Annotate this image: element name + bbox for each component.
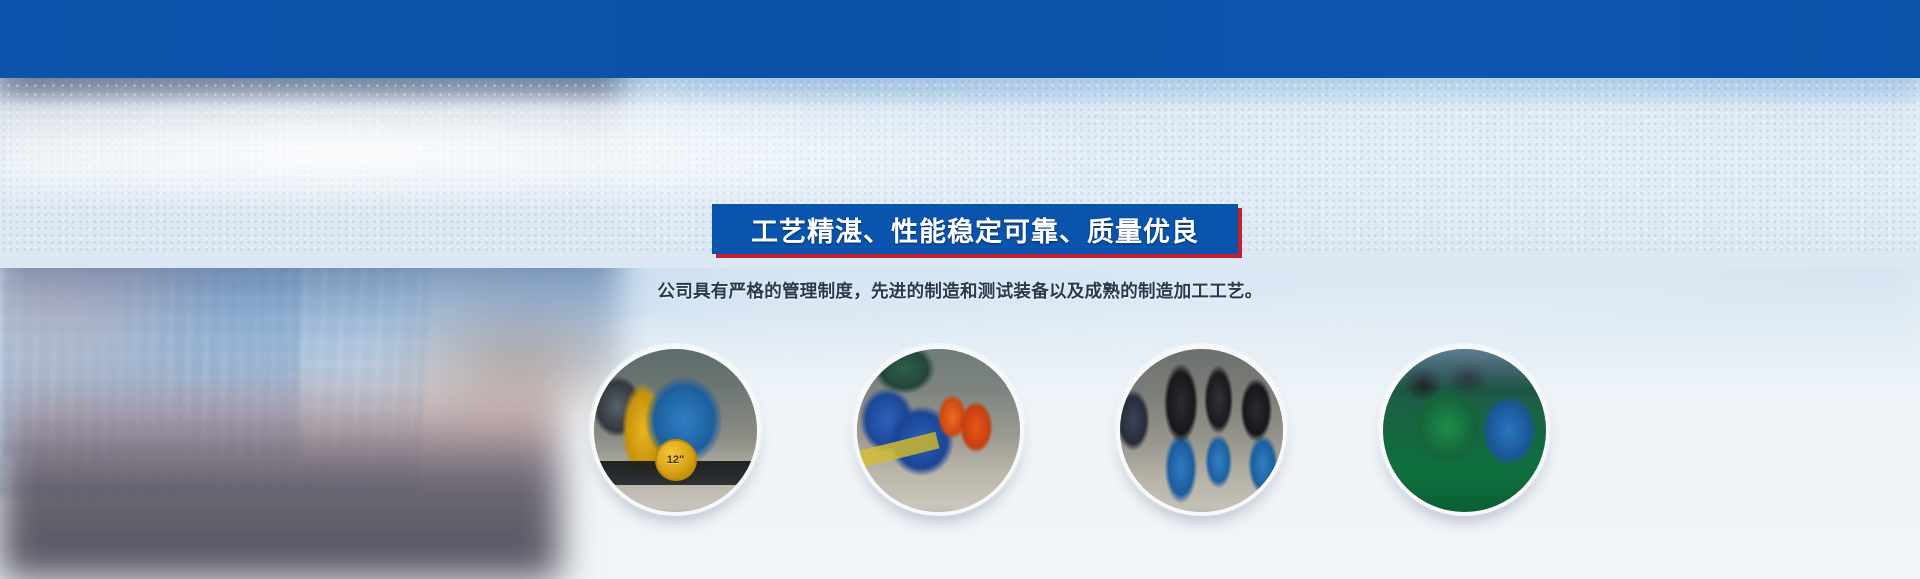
diesel-engine-pump-photo xyxy=(1379,345,1550,516)
flange-size-badge: 12" xyxy=(655,439,697,481)
gallery-item-vertical-inline-pump[interactable] xyxy=(1116,345,1287,516)
ground-glare-layer xyxy=(0,78,1920,198)
gallery-item-diesel-engine-pump[interactable] xyxy=(1379,345,1550,516)
top-blue-bar xyxy=(0,0,1920,78)
hero-subtitle: 公司具有严格的管理制度，先进的制造和测试装备以及成熟的制造加工工艺。 xyxy=(0,278,1920,303)
gallery-item-slurry-pump-row[interactable] xyxy=(853,345,1024,516)
vertical-inline-pump-photo xyxy=(1116,345,1287,516)
slurry-pump-row-photo xyxy=(853,345,1024,516)
banner-stage: 工艺精湛、性能稳定可靠、质量优良 公司具有严格的管理制度，先进的制造和测试装备以… xyxy=(0,0,1920,579)
product-gallery: 12" xyxy=(0,345,1920,525)
split-case-pump-photo xyxy=(590,345,761,516)
gallery-item-split-case-pump[interactable]: 12" xyxy=(590,345,761,516)
page-title: 工艺精湛、性能稳定可靠、质量优良 xyxy=(751,210,1199,249)
headline-plaque: 工艺精湛、性能稳定可靠、质量优良 xyxy=(712,204,1238,254)
